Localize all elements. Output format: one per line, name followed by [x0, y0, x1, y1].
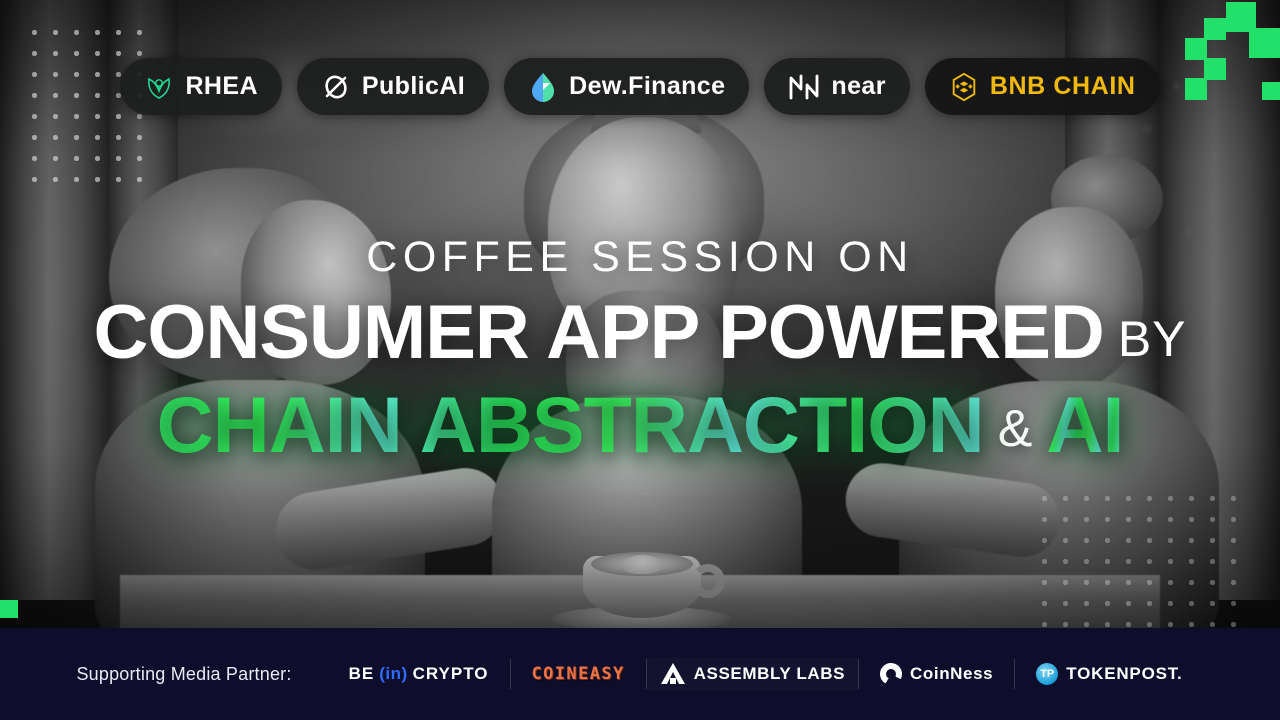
media-logo-coineasy[interactable]: COINEASY [511, 664, 646, 684]
event-promo-banner: RHEA PublicAI Dew.Finance [0, 0, 1280, 720]
media-logo-beincrypto[interactable]: BE (in) CRYPTO [328, 664, 510, 684]
media-logo-assembly-labs[interactable]: ASSEMBLY LABS [647, 657, 858, 691]
partner-pill-rhea[interactable]: RHEA [120, 58, 281, 115]
media-logo-tokenpost[interactable]: TP TOKENPOST. [1015, 663, 1203, 685]
media-logo-coinness[interactable]: CoinNess [859, 663, 1014, 685]
partner-label-near: near [831, 72, 885, 101]
dew-droplet-icon [528, 71, 558, 103]
near-logo-icon [788, 73, 820, 101]
headline-line-1: COFFEE SESSION ON [0, 236, 1280, 279]
assembly-labs-label: ASSEMBLY LABS [694, 664, 845, 684]
assembly-labs-icon [660, 662, 686, 686]
partner-logo-row: RHEA PublicAI Dew.Finance [0, 58, 1280, 115]
coinness-c-icon [880, 663, 902, 685]
tokenpost-circle-icon: TP [1036, 663, 1058, 685]
headline-line-3: CHAIN ABSTRACTION&AI [0, 385, 1280, 464]
pixel-block-tr-3 [1204, 18, 1226, 40]
rhea-wreath-icon [144, 72, 174, 102]
beincrypto-crypto-text: CRYPTO [413, 664, 489, 684]
headline-main-text: CONSUMER APP POWERED [93, 290, 1103, 375]
partner-label-rhea: RHEA [185, 72, 257, 101]
beincrypto-be-text: BE [349, 664, 375, 684]
supporting-media-partner-label: Supporting Media Partner: [76, 664, 291, 685]
partner-pill-near[interactable]: near [764, 58, 909, 115]
pixel-block-tr-2 [1249, 28, 1280, 58]
headline-chain-abstraction-text: CHAIN ABSTRACTION [157, 380, 984, 469]
dot-grid-bottom-right [1034, 488, 1244, 628]
headline-block: COFFEE SESSION ON CONSUMER APP POWEREDBY… [0, 236, 1280, 464]
beincrypto-in-text: (in) [379, 664, 407, 684]
coineasy-label: COINEASY [532, 664, 625, 684]
partner-pill-bnbchain[interactable]: BNB CHAIN [925, 58, 1160, 115]
partner-label-dewfinance: Dew.Finance [569, 72, 725, 101]
headline-ai-text: AI [1046, 380, 1123, 469]
tokenpost-label: TOKENPOST. [1066, 664, 1182, 684]
coinness-label: CoinNess [910, 664, 993, 684]
pixel-block-bl-1 [0, 600, 18, 618]
media-partner-footer: Supporting Media Partner: BE (in) CRYPTO… [0, 628, 1280, 720]
headline-by-text: BY [1118, 311, 1187, 367]
headline-ampersand: & [998, 400, 1033, 458]
publicai-circle-slash-icon [321, 72, 351, 102]
bnb-diamond-icon [949, 72, 979, 102]
pixel-block-tr-4 [1185, 38, 1207, 60]
partner-label-bnbchain: BNB CHAIN [990, 72, 1136, 101]
headline-line-2: CONSUMER APP POWEREDBY [0, 295, 1280, 371]
partner-pill-publicai[interactable]: PublicAI [297, 58, 489, 115]
partner-pill-dewfinance[interactable]: Dew.Finance [504, 58, 749, 115]
partner-label-publicai: PublicAI [362, 72, 465, 101]
